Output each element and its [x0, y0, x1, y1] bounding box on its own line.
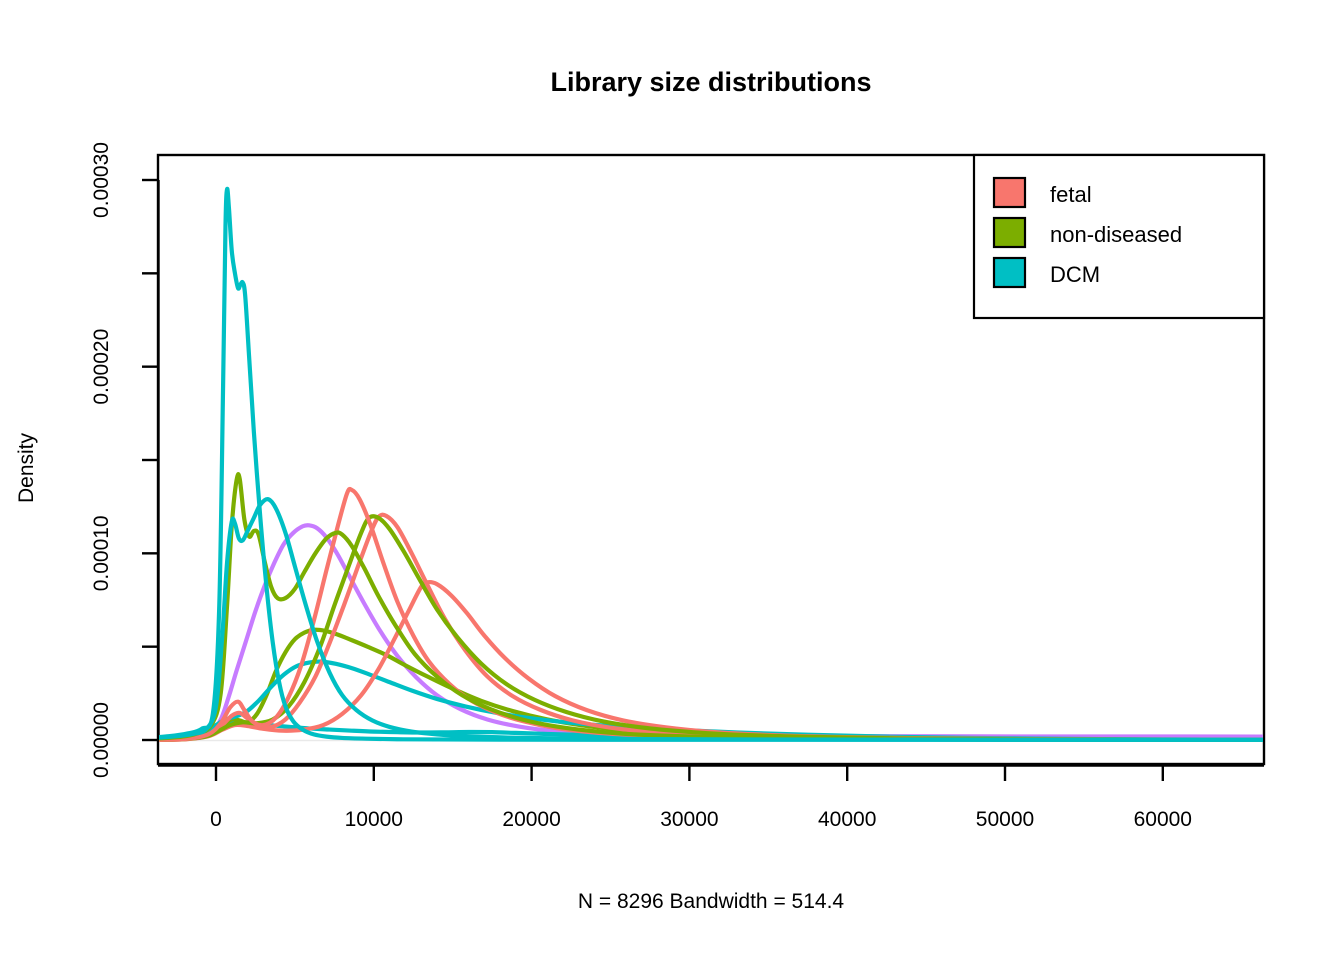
x-tick-label: 20000	[502, 808, 560, 831]
y-tick-label: 0.00000	[90, 702, 113, 778]
x-tick-label: 30000	[660, 808, 718, 831]
y-tick-label: 0.00010	[90, 515, 113, 591]
x-tick-label: 50000	[976, 808, 1034, 831]
legend-label-non-diseased[interactable]: non-diseased	[1050, 222, 1182, 247]
y-tick-label: 0.00020	[90, 329, 113, 405]
x-tick-label: 40000	[818, 808, 876, 831]
y-axis-label: Density	[15, 432, 38, 503]
legend-swatch-non-diseased[interactable]	[994, 218, 1025, 247]
y-tick-label: 0.00030	[90, 142, 113, 218]
x-axis-caption: N = 8296 Bandwidth = 514.4	[578, 890, 845, 913]
page-title: Library size distributions	[550, 67, 871, 97]
x-tick-label: 60000	[1134, 808, 1192, 831]
legend-swatch-DCM[interactable]	[994, 258, 1025, 287]
plot-canvas: Library size distributions Density N = 8…	[0, 0, 1344, 960]
legend[interactable]: fetalnon-diseasedDCM	[974, 155, 1264, 318]
x-tick-label: 0	[210, 808, 222, 831]
legend-label-fetal[interactable]: fetal	[1050, 182, 1092, 207]
legend-swatch-fetal[interactable]	[994, 178, 1025, 207]
legend-label-DCM[interactable]: DCM	[1050, 262, 1100, 287]
x-tick-label: 10000	[345, 808, 403, 831]
density-plot-figure: Library size distributions Density N = 8…	[0, 0, 1344, 960]
